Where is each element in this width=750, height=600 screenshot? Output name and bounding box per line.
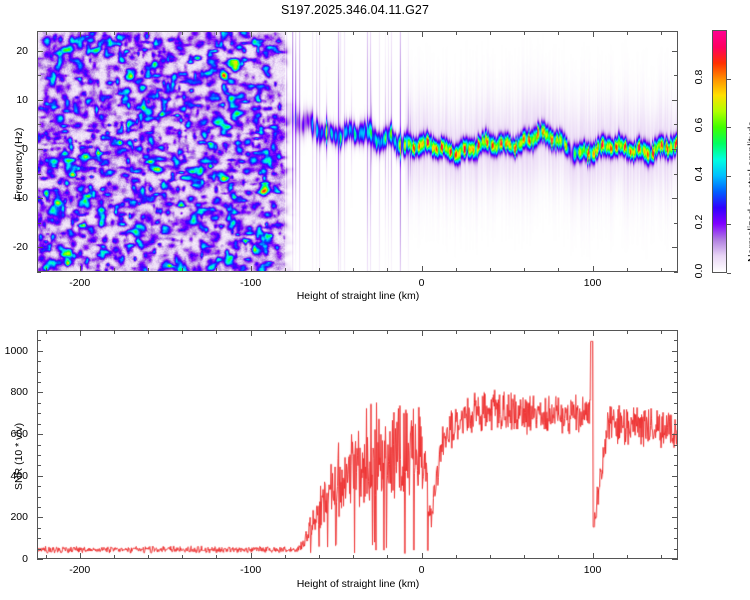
y-minor-tick <box>37 507 41 508</box>
x-tick <box>80 553 81 559</box>
colorbar-tick-label: 0.2 <box>693 211 705 233</box>
y-tick-right <box>672 392 678 393</box>
colorbar-tick <box>727 224 731 225</box>
y-minor-tick <box>674 486 678 487</box>
x-minor-tick <box>148 555 149 559</box>
x-tick-top <box>593 330 594 336</box>
y-tick-right <box>672 434 678 435</box>
x-minor-tick <box>456 555 457 559</box>
x-minor-tick <box>285 330 286 334</box>
figure-title: S197.2025.346.04.11.G27 <box>0 3 710 17</box>
y-minor-tick <box>37 424 41 425</box>
y-tick-label: -20 <box>0 241 28 253</box>
x-tick-label: 100 <box>584 564 602 576</box>
x-minor-tick <box>182 555 183 559</box>
y-tick-right <box>672 517 678 518</box>
x-minor-tick <box>490 330 491 334</box>
x-minor-tick <box>46 268 47 272</box>
y-minor-tick <box>674 507 678 508</box>
y-tick <box>37 434 43 435</box>
y-minor-tick <box>674 372 678 373</box>
y-tick-right <box>672 247 678 248</box>
y-tick-right <box>672 198 678 199</box>
y-minor-tick <box>674 174 678 175</box>
y-tick-label: 20 <box>0 45 28 57</box>
y-tick-label: 1000 <box>0 345 28 357</box>
x-tick-label: 100 <box>584 277 602 289</box>
x-minor-tick <box>456 31 457 35</box>
x-minor-tick <box>182 268 183 272</box>
x-minor-tick <box>216 330 217 334</box>
y-minor-tick <box>37 340 41 341</box>
x-minor-tick <box>46 330 47 334</box>
x-minor-tick <box>661 330 662 334</box>
x-minor-tick <box>285 31 286 35</box>
x-minor-tick <box>114 31 115 35</box>
x-tick <box>593 266 594 272</box>
spectrogram-canvas <box>38 32 677 271</box>
y-minor-tick <box>674 403 678 404</box>
x-minor-tick <box>627 31 628 35</box>
y-tick-right <box>672 351 678 352</box>
colorbar-tick-label: 0.6 <box>693 114 705 136</box>
x-minor-tick <box>216 555 217 559</box>
x-minor-tick <box>387 555 388 559</box>
x-minor-tick <box>114 555 115 559</box>
y-tick <box>37 559 43 560</box>
x-tick-top <box>593 31 594 37</box>
x-minor-tick <box>524 31 525 35</box>
y-minor-tick <box>674 424 678 425</box>
x-minor-tick <box>114 330 115 334</box>
y-minor-tick <box>37 497 41 498</box>
x-tick-top <box>422 330 423 336</box>
y-minor-tick <box>674 330 678 331</box>
x-minor-tick <box>558 268 559 272</box>
y-minor-tick <box>37 465 41 466</box>
y-minor-tick <box>37 486 41 487</box>
y-minor-tick <box>674 340 678 341</box>
x-minor-tick <box>182 31 183 35</box>
x-minor-tick <box>216 268 217 272</box>
x-tick-label: -100 <box>240 564 261 576</box>
y-tick-right <box>672 559 678 560</box>
x-tick-label: -200 <box>69 564 90 576</box>
y-tick-right <box>672 51 678 52</box>
x-minor-tick <box>46 555 47 559</box>
y-tick-label: 800 <box>0 386 28 398</box>
y-minor-tick <box>37 174 41 175</box>
y-minor-tick <box>674 528 678 529</box>
x-minor-tick <box>627 330 628 334</box>
y-tick <box>37 392 43 393</box>
snr-panel <box>37 330 678 559</box>
x-minor-tick <box>319 31 320 35</box>
x-minor-tick <box>661 268 662 272</box>
figure-root: S197.2025.346.04.11.G27 -200-1000100-20-… <box>0 0 750 600</box>
colorbar-tick <box>727 127 731 128</box>
y-tick <box>37 247 43 248</box>
x-minor-tick <box>387 330 388 334</box>
x-tick <box>80 266 81 272</box>
y-tick-label: 0 <box>0 553 28 565</box>
y-minor-tick <box>37 549 41 550</box>
x-tick-label: -100 <box>240 277 261 289</box>
y-minor-tick <box>674 445 678 446</box>
x-minor-tick <box>285 555 286 559</box>
x-minor-tick <box>285 268 286 272</box>
colorbar-tick <box>727 273 731 274</box>
y-tick <box>37 517 43 518</box>
y-minor-tick <box>37 361 41 362</box>
colorbar-title: Normalized spectral amplitude <box>746 121 750 262</box>
y-minor-tick <box>674 75 678 76</box>
snr-ylabel: SNR (10 * v/v) <box>13 423 25 490</box>
y-minor-tick <box>674 223 678 224</box>
y-minor-tick <box>674 272 678 273</box>
y-minor-tick <box>37 382 41 383</box>
y-minor-tick <box>674 413 678 414</box>
x-tick-label: 0 <box>419 564 425 576</box>
x-minor-tick <box>456 268 457 272</box>
snr-xlabel: Height of straight line (km) <box>297 578 420 590</box>
x-tick-label: 0 <box>419 277 425 289</box>
x-minor-tick <box>524 268 525 272</box>
y-tick-label: 200 <box>0 511 28 523</box>
colorbar-tick <box>727 176 731 177</box>
x-minor-tick <box>524 330 525 334</box>
y-minor-tick <box>37 124 41 125</box>
x-minor-tick <box>353 31 354 35</box>
x-minor-tick <box>558 31 559 35</box>
x-minor-tick <box>148 268 149 272</box>
x-minor-tick <box>490 555 491 559</box>
x-minor-tick <box>114 268 115 272</box>
x-minor-tick <box>627 555 628 559</box>
x-minor-tick <box>558 555 559 559</box>
x-minor-tick <box>353 268 354 272</box>
y-tick-right <box>672 100 678 101</box>
x-minor-tick <box>558 330 559 334</box>
y-minor-tick <box>674 465 678 466</box>
y-minor-tick <box>674 497 678 498</box>
y-minor-tick <box>37 75 41 76</box>
spectrogram-xlabel: Height of straight line (km) <box>297 290 420 302</box>
spectrogram-panel <box>37 31 678 272</box>
x-tick <box>422 266 423 272</box>
x-minor-tick <box>353 555 354 559</box>
y-minor-tick <box>674 382 678 383</box>
y-minor-tick <box>37 528 41 529</box>
x-minor-tick <box>627 268 628 272</box>
x-minor-tick <box>661 555 662 559</box>
x-minor-tick <box>353 330 354 334</box>
colorbar <box>712 30 727 273</box>
y-minor-tick <box>674 455 678 456</box>
y-minor-tick <box>674 538 678 539</box>
x-minor-tick <box>319 330 320 334</box>
x-minor-tick <box>387 31 388 35</box>
x-minor-tick <box>319 268 320 272</box>
x-minor-tick <box>456 330 457 334</box>
x-minor-tick <box>661 31 662 35</box>
x-minor-tick <box>46 31 47 35</box>
y-tick <box>37 351 43 352</box>
y-minor-tick <box>37 455 41 456</box>
colorbar-tick-label: 0.4 <box>693 163 705 185</box>
x-tick-label: -200 <box>69 277 90 289</box>
spectrogram-ylabel: Frequency (Hz) <box>13 128 25 200</box>
colorbar-tick <box>727 79 731 80</box>
x-tick <box>251 553 252 559</box>
y-tick <box>37 51 43 52</box>
x-minor-tick <box>490 31 491 35</box>
x-tick-top <box>251 330 252 336</box>
x-minor-tick <box>148 31 149 35</box>
snr-canvas <box>38 331 677 558</box>
y-minor-tick <box>674 549 678 550</box>
colorbar-tick-label: 0.8 <box>693 66 705 88</box>
y-tick <box>37 476 43 477</box>
y-minor-tick <box>37 445 41 446</box>
x-tick-top <box>80 31 81 37</box>
y-minor-tick <box>37 223 41 224</box>
x-minor-tick <box>524 555 525 559</box>
x-minor-tick <box>148 330 149 334</box>
y-minor-tick <box>37 272 41 273</box>
y-tick-label: 10 <box>0 94 28 106</box>
colorbar-gradient <box>713 31 726 272</box>
x-tick <box>593 553 594 559</box>
x-minor-tick <box>319 555 320 559</box>
x-minor-tick <box>490 268 491 272</box>
y-tick <box>37 149 43 150</box>
y-minor-tick <box>37 413 41 414</box>
y-tick <box>37 100 43 101</box>
y-tick <box>37 198 43 199</box>
x-minor-tick <box>216 31 217 35</box>
y-minor-tick <box>37 403 41 404</box>
y-minor-tick <box>37 538 41 539</box>
x-tick-top <box>80 330 81 336</box>
y-minor-tick <box>674 124 678 125</box>
x-minor-tick <box>182 330 183 334</box>
x-tick <box>422 553 423 559</box>
colorbar-tick-label: 0.0 <box>693 260 705 282</box>
x-tick-top <box>422 31 423 37</box>
y-minor-tick <box>37 330 41 331</box>
y-minor-tick <box>37 372 41 373</box>
y-tick-right <box>672 476 678 477</box>
x-tick-top <box>251 31 252 37</box>
y-minor-tick <box>674 361 678 362</box>
y-tick-right <box>672 149 678 150</box>
x-minor-tick <box>387 268 388 272</box>
x-tick <box>251 266 252 272</box>
